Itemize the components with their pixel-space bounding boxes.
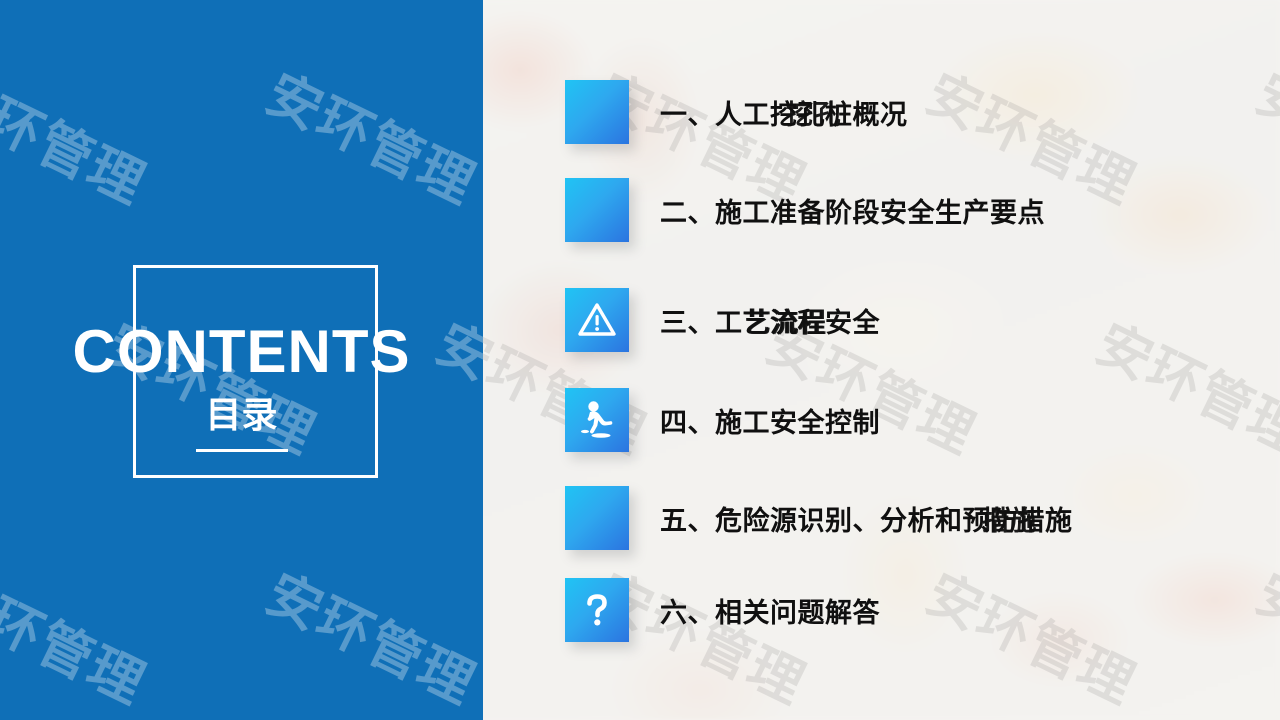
warning-triangle-icon	[565, 288, 629, 352]
toc-item-label: 五、危险源识别、分析和预防措施措施	[660, 486, 1073, 550]
toc-item-5[interactable]: 五、危险源识别、分析和预防措施措施	[483, 486, 1280, 556]
subtitle-underline	[196, 449, 288, 452]
toc-item-label: 二、施工准备阶段安全生产要点	[660, 178, 1045, 242]
left-blue-panel: 安环管理安环管理安环管理安环管理安环管理安环管理安环管理安环管理安环管理安环管理…	[0, 0, 483, 720]
toc-item-6[interactable]: 六、相关问题解答	[483, 578, 1280, 648]
toc-item-label: 三、工艺流程安全艺流程	[660, 288, 880, 352]
toc-item-1[interactable]: 一、人工挖孔桩概况挖孔	[483, 80, 1280, 150]
toc-item-label: 一、人工挖孔桩概况挖孔	[660, 80, 908, 144]
blank-square-icon	[565, 80, 629, 144]
question-mark-icon	[565, 578, 629, 642]
blank-square-icon	[565, 486, 629, 550]
watermark-text: 安环管理	[0, 50, 161, 219]
blank-square-icon	[565, 178, 629, 242]
toc-item-3[interactable]: 三、工艺流程安全艺流程	[483, 288, 1280, 358]
table-of-contents-list: 一、人工挖孔桩概况挖孔二、施工准备阶段安全生产要点三、工艺流程安全艺流程四、施工…	[483, 0, 1280, 720]
page-subtitle: 目录	[0, 398, 483, 434]
person-slipping-icon	[565, 388, 629, 452]
toc-item-label-artifact: 艺流程	[744, 288, 827, 352]
toc-item-label: 四、施工安全控制	[660, 388, 880, 452]
watermark-text: 安环管理	[0, 550, 161, 719]
toc-item-2[interactable]: 二、施工准备阶段安全生产要点	[483, 178, 1280, 248]
page-title: CONTENTS	[0, 322, 483, 382]
toc-item-label-artifact: 措施	[982, 486, 1037, 550]
toc-item-4[interactable]: 四、施工安全控制	[483, 388, 1280, 458]
toc-item-label-artifact: 挖孔	[786, 80, 841, 144]
toc-item-label: 六、相关问题解答	[660, 578, 880, 642]
watermark-text: 安环管理	[255, 50, 483, 219]
slide-root: 安环管理安环管理安环管理安环管理安环管理安环管理安环管理安环管理安环管理安环管理…	[0, 0, 1280, 720]
watermark-text: 安环管理	[255, 550, 483, 719]
